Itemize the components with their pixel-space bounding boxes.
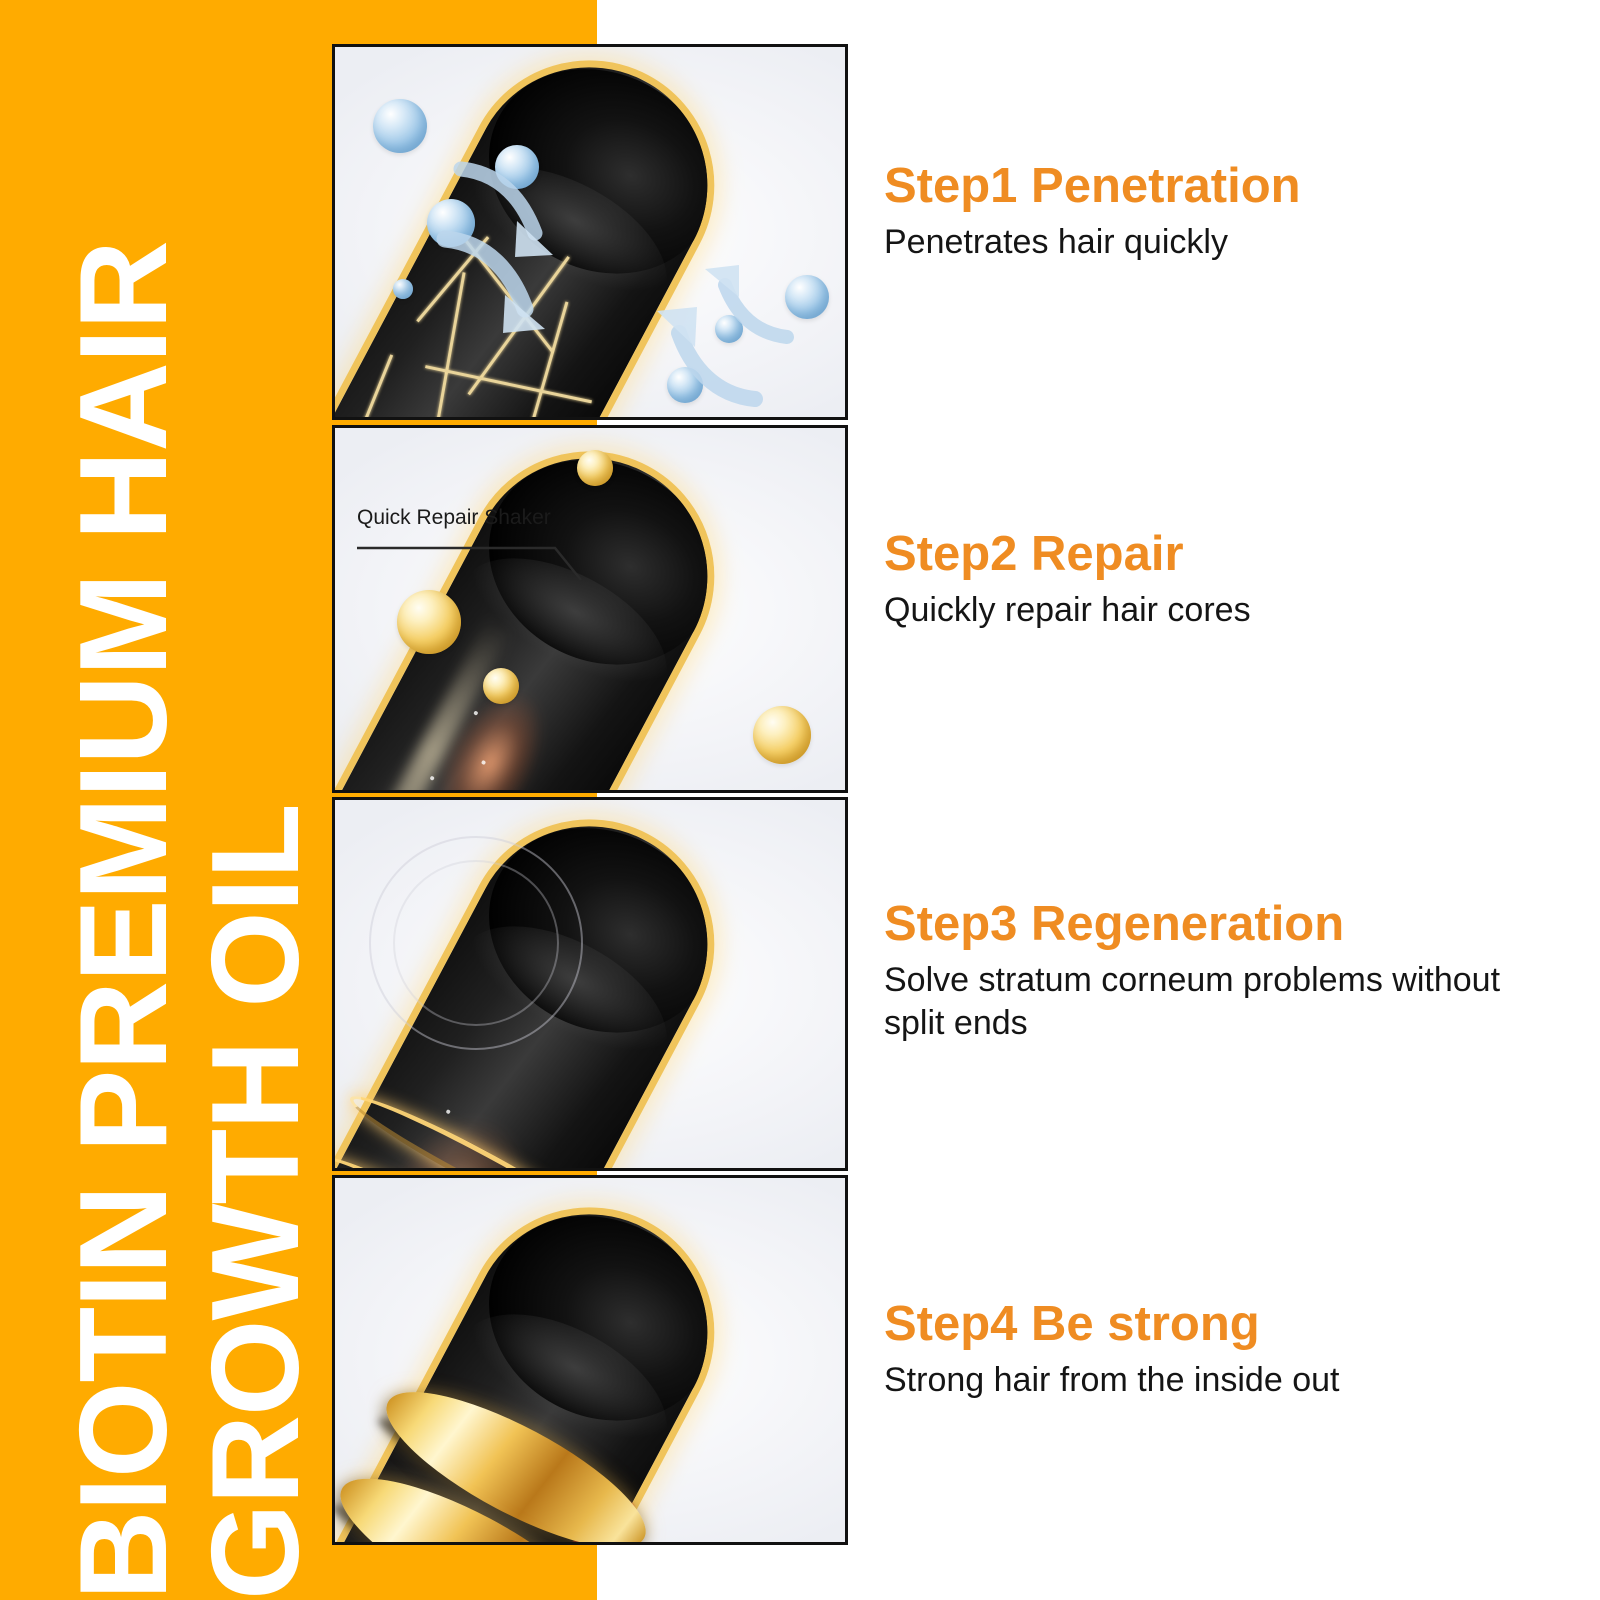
panel-penetration: [332, 44, 848, 420]
panel-repair: Quick Repair Shaker: [332, 425, 848, 793]
oil-droplet: [397, 590, 461, 654]
brand-title-line-1: BIOTIN PREMIUM HAIR: [62, 241, 186, 1600]
oil-droplet: [483, 668, 519, 704]
step-title-2: Step2 Repair: [884, 528, 1574, 581]
step-title-3: Step3 Regeneration: [884, 898, 1574, 951]
step-item-3: Step3 Regeneration Solve stratum corneum…: [884, 898, 1574, 1046]
penetration-arrow: [439, 227, 569, 337]
cuticle-crack: [425, 365, 592, 403]
callout-label-quick-repair-shaker: Quick Repair Shaker: [357, 506, 551, 530]
penetration-arrow: [687, 265, 797, 355]
step-item-2: Step2 Repair Quickly repair hair cores: [884, 528, 1574, 632]
steps-column: Step1 Penetration Penetrates hair quickl…: [884, 0, 1584, 1600]
brand-title-line-2: GROWTH OIL: [194, 804, 318, 1600]
step-title-4: Step4 Be strong: [884, 1298, 1574, 1351]
core-sparkle: [471, 1168, 476, 1171]
step-item-1: Step1 Penetration Penetrates hair quickl…: [884, 160, 1574, 264]
step-description-2: Quickly repair hair cores: [884, 589, 1524, 633]
panel-regeneration: [332, 797, 848, 1171]
step-description-1: Penetrates hair quickly: [884, 221, 1524, 265]
oil-droplet: [577, 450, 613, 486]
step-description-4: Strong hair from the inside out: [884, 1359, 1524, 1403]
oil-droplet: [753, 706, 811, 764]
moisture-droplet: [393, 279, 413, 299]
panel-column: Quick Repair Shaker: [332, 44, 848, 1545]
moisture-droplet: [373, 99, 427, 153]
ambient-halo: [393, 860, 559, 1026]
step-title-1: Step1 Penetration: [884, 160, 1574, 213]
callout-leader-line: [355, 536, 585, 586]
step-description-3: Solve stratum corneum problems without s…: [884, 959, 1524, 1046]
panel-be-strong: [332, 1175, 848, 1545]
step-item-4: Step4 Be strong Strong hair from the ins…: [884, 1298, 1574, 1402]
